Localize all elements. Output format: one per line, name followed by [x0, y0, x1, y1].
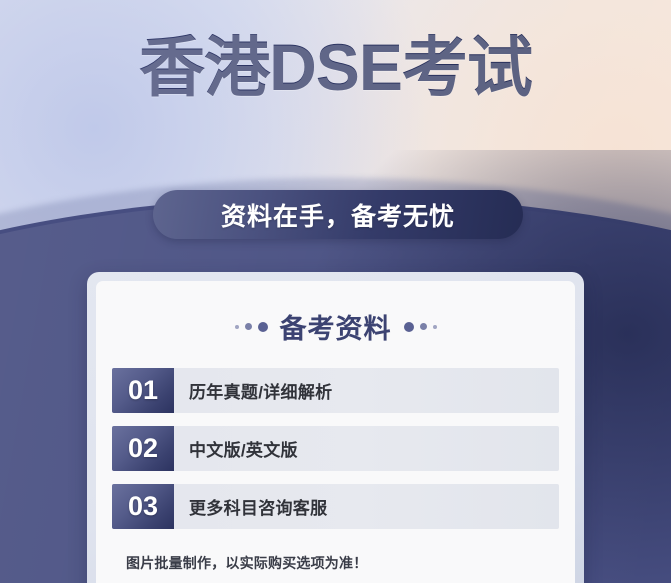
dot-icon: [433, 325, 437, 329]
decorative-dots-right: [404, 322, 437, 332]
list-item-number: 03: [112, 484, 174, 529]
list-item: 03 更多科目咨询客服: [112, 484, 559, 529]
decorative-dots-left: [235, 322, 268, 332]
subtitle-pill: 资料在手，备考无忧: [153, 190, 523, 239]
list-item-label: 历年真题/详细解析: [174, 368, 332, 413]
page-title: 香港DSE考试: [0, 34, 671, 100]
dot-icon: [420, 323, 427, 330]
dot-icon: [404, 322, 414, 332]
dot-icon: [258, 322, 268, 332]
dot-icon: [235, 325, 239, 329]
info-card-frame: 备考资料 01 历年真题/详细解析 02 中文版/英文版 03: [87, 272, 584, 583]
subtitle-pill-label: 资料在手，备考无忧: [221, 197, 455, 233]
card-heading: 备考资料: [280, 307, 392, 346]
list-item: 02 中文版/英文版: [112, 426, 559, 471]
list-item: 01 历年真题/详细解析: [112, 368, 559, 413]
dot-icon: [245, 323, 252, 330]
info-card: 备考资料 01 历年真题/详细解析 02 中文版/英文版 03: [96, 281, 575, 583]
poster-banner: 香港DSE考试 资料在手，备考无忧 备考资料 01: [0, 0, 671, 583]
disclaimer-note: 图片批量制作，以实际购买选项为准！: [126, 553, 367, 573]
list-item-label: 更多科目咨询客服: [174, 484, 327, 529]
card-header: 备考资料: [96, 281, 575, 346]
list-item-number: 01: [112, 368, 174, 413]
list-item-number: 02: [112, 426, 174, 471]
feature-list: 01 历年真题/详细解析 02 中文版/英文版 03 更多科目咨询客服: [96, 368, 575, 529]
list-item-label: 中文版/英文版: [174, 426, 298, 471]
